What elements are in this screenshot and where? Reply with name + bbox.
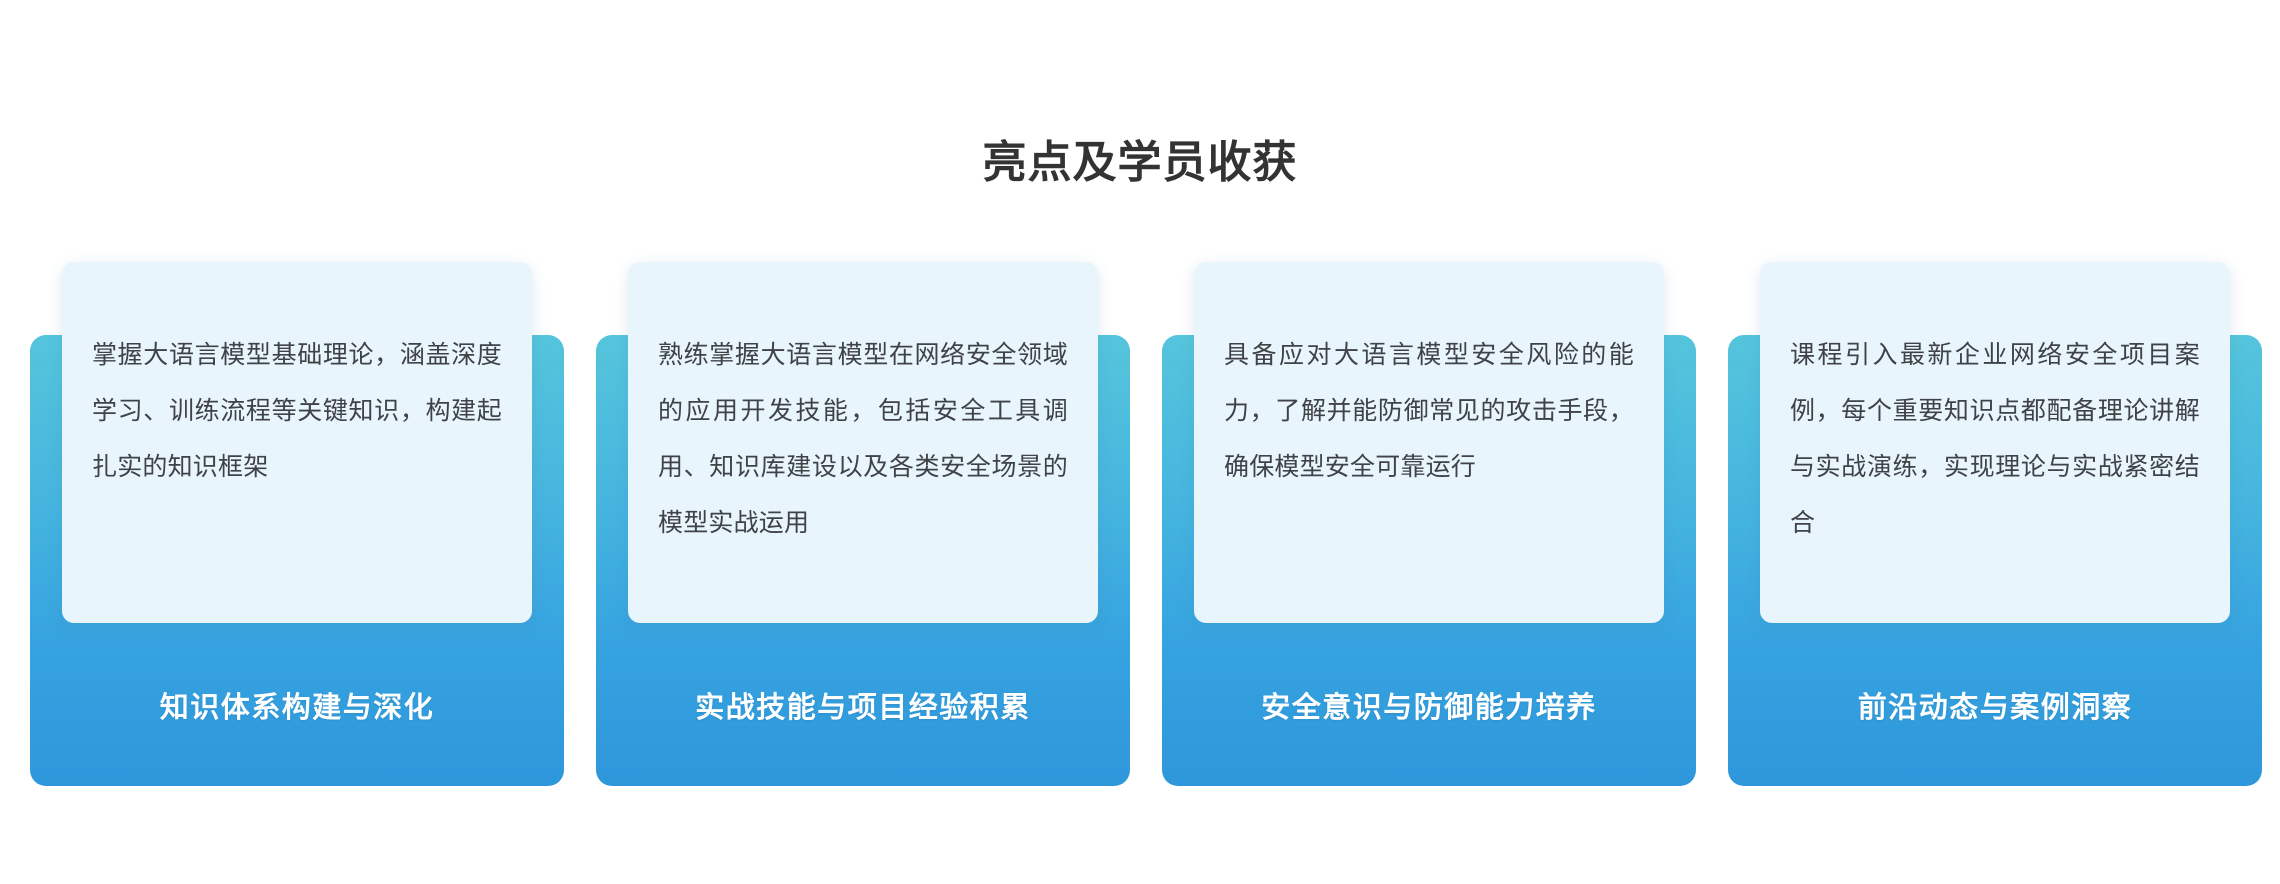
card-content-panel: 课程引入最新企业网络安全项目案例，每个重要知识点都配备理论讲解与实战演练，实现理…	[1760, 262, 2230, 623]
card-label: 前沿动态与案例洞察	[1728, 624, 2262, 786]
card-body-text: 课程引入最新企业网络安全项目案例，每个重要知识点都配备理论讲解与实战演练，实现理…	[1790, 327, 2200, 551]
highlights-section: 亮点及学员收获 知识体系构建与深化 掌握大语言模型基础理论，涵盖深度学习、训练流…	[0, 0, 2280, 884]
card-content-panel: 熟练掌握大语言模型在网络安全领域的应用开发技能，包括安全工具调用、知识库建设以及…	[628, 262, 1098, 623]
card-label: 实战技能与项目经验积累	[596, 624, 1130, 786]
benefit-card[interactable]: 安全意识与防御能力培养 具备应对大语言模型安全风险的能力，了解并能防御常见的攻击…	[1162, 262, 1696, 786]
card-content-panel: 掌握大语言模型基础理论，涵盖深度学习、训练流程等关键知识，构建起扎实的知识框架	[62, 262, 532, 623]
benefit-cards-row: 知识体系构建与深化 掌握大语言模型基础理论，涵盖深度学习、训练流程等关键知识，构…	[30, 262, 2252, 786]
card-body-text: 掌握大语言模型基础理论，涵盖深度学习、训练流程等关键知识，构建起扎实的知识框架	[92, 327, 502, 495]
card-content-panel: 具备应对大语言模型安全风险的能力，了解并能防御常见的攻击手段，确保模型安全可靠运…	[1194, 262, 1664, 623]
benefit-card[interactable]: 知识体系构建与深化 掌握大语言模型基础理论，涵盖深度学习、训练流程等关键知识，构…	[30, 262, 564, 786]
card-label: 安全意识与防御能力培养	[1162, 624, 1696, 786]
benefit-card[interactable]: 实战技能与项目经验积累 熟练掌握大语言模型在网络安全领域的应用开发技能，包括安全…	[596, 262, 1130, 786]
card-body-text: 具备应对大语言模型安全风险的能力，了解并能防御常见的攻击手段，确保模型安全可靠运…	[1224, 327, 1634, 495]
card-label: 知识体系构建与深化	[30, 624, 564, 786]
benefit-card[interactable]: 前沿动态与案例洞察 课程引入最新企业网络安全项目案例，每个重要知识点都配备理论讲…	[1728, 262, 2262, 786]
card-body-text: 熟练掌握大语言模型在网络安全领域的应用开发技能，包括安全工具调用、知识库建设以及…	[658, 327, 1068, 551]
page-title: 亮点及学员收获	[0, 137, 2280, 190]
